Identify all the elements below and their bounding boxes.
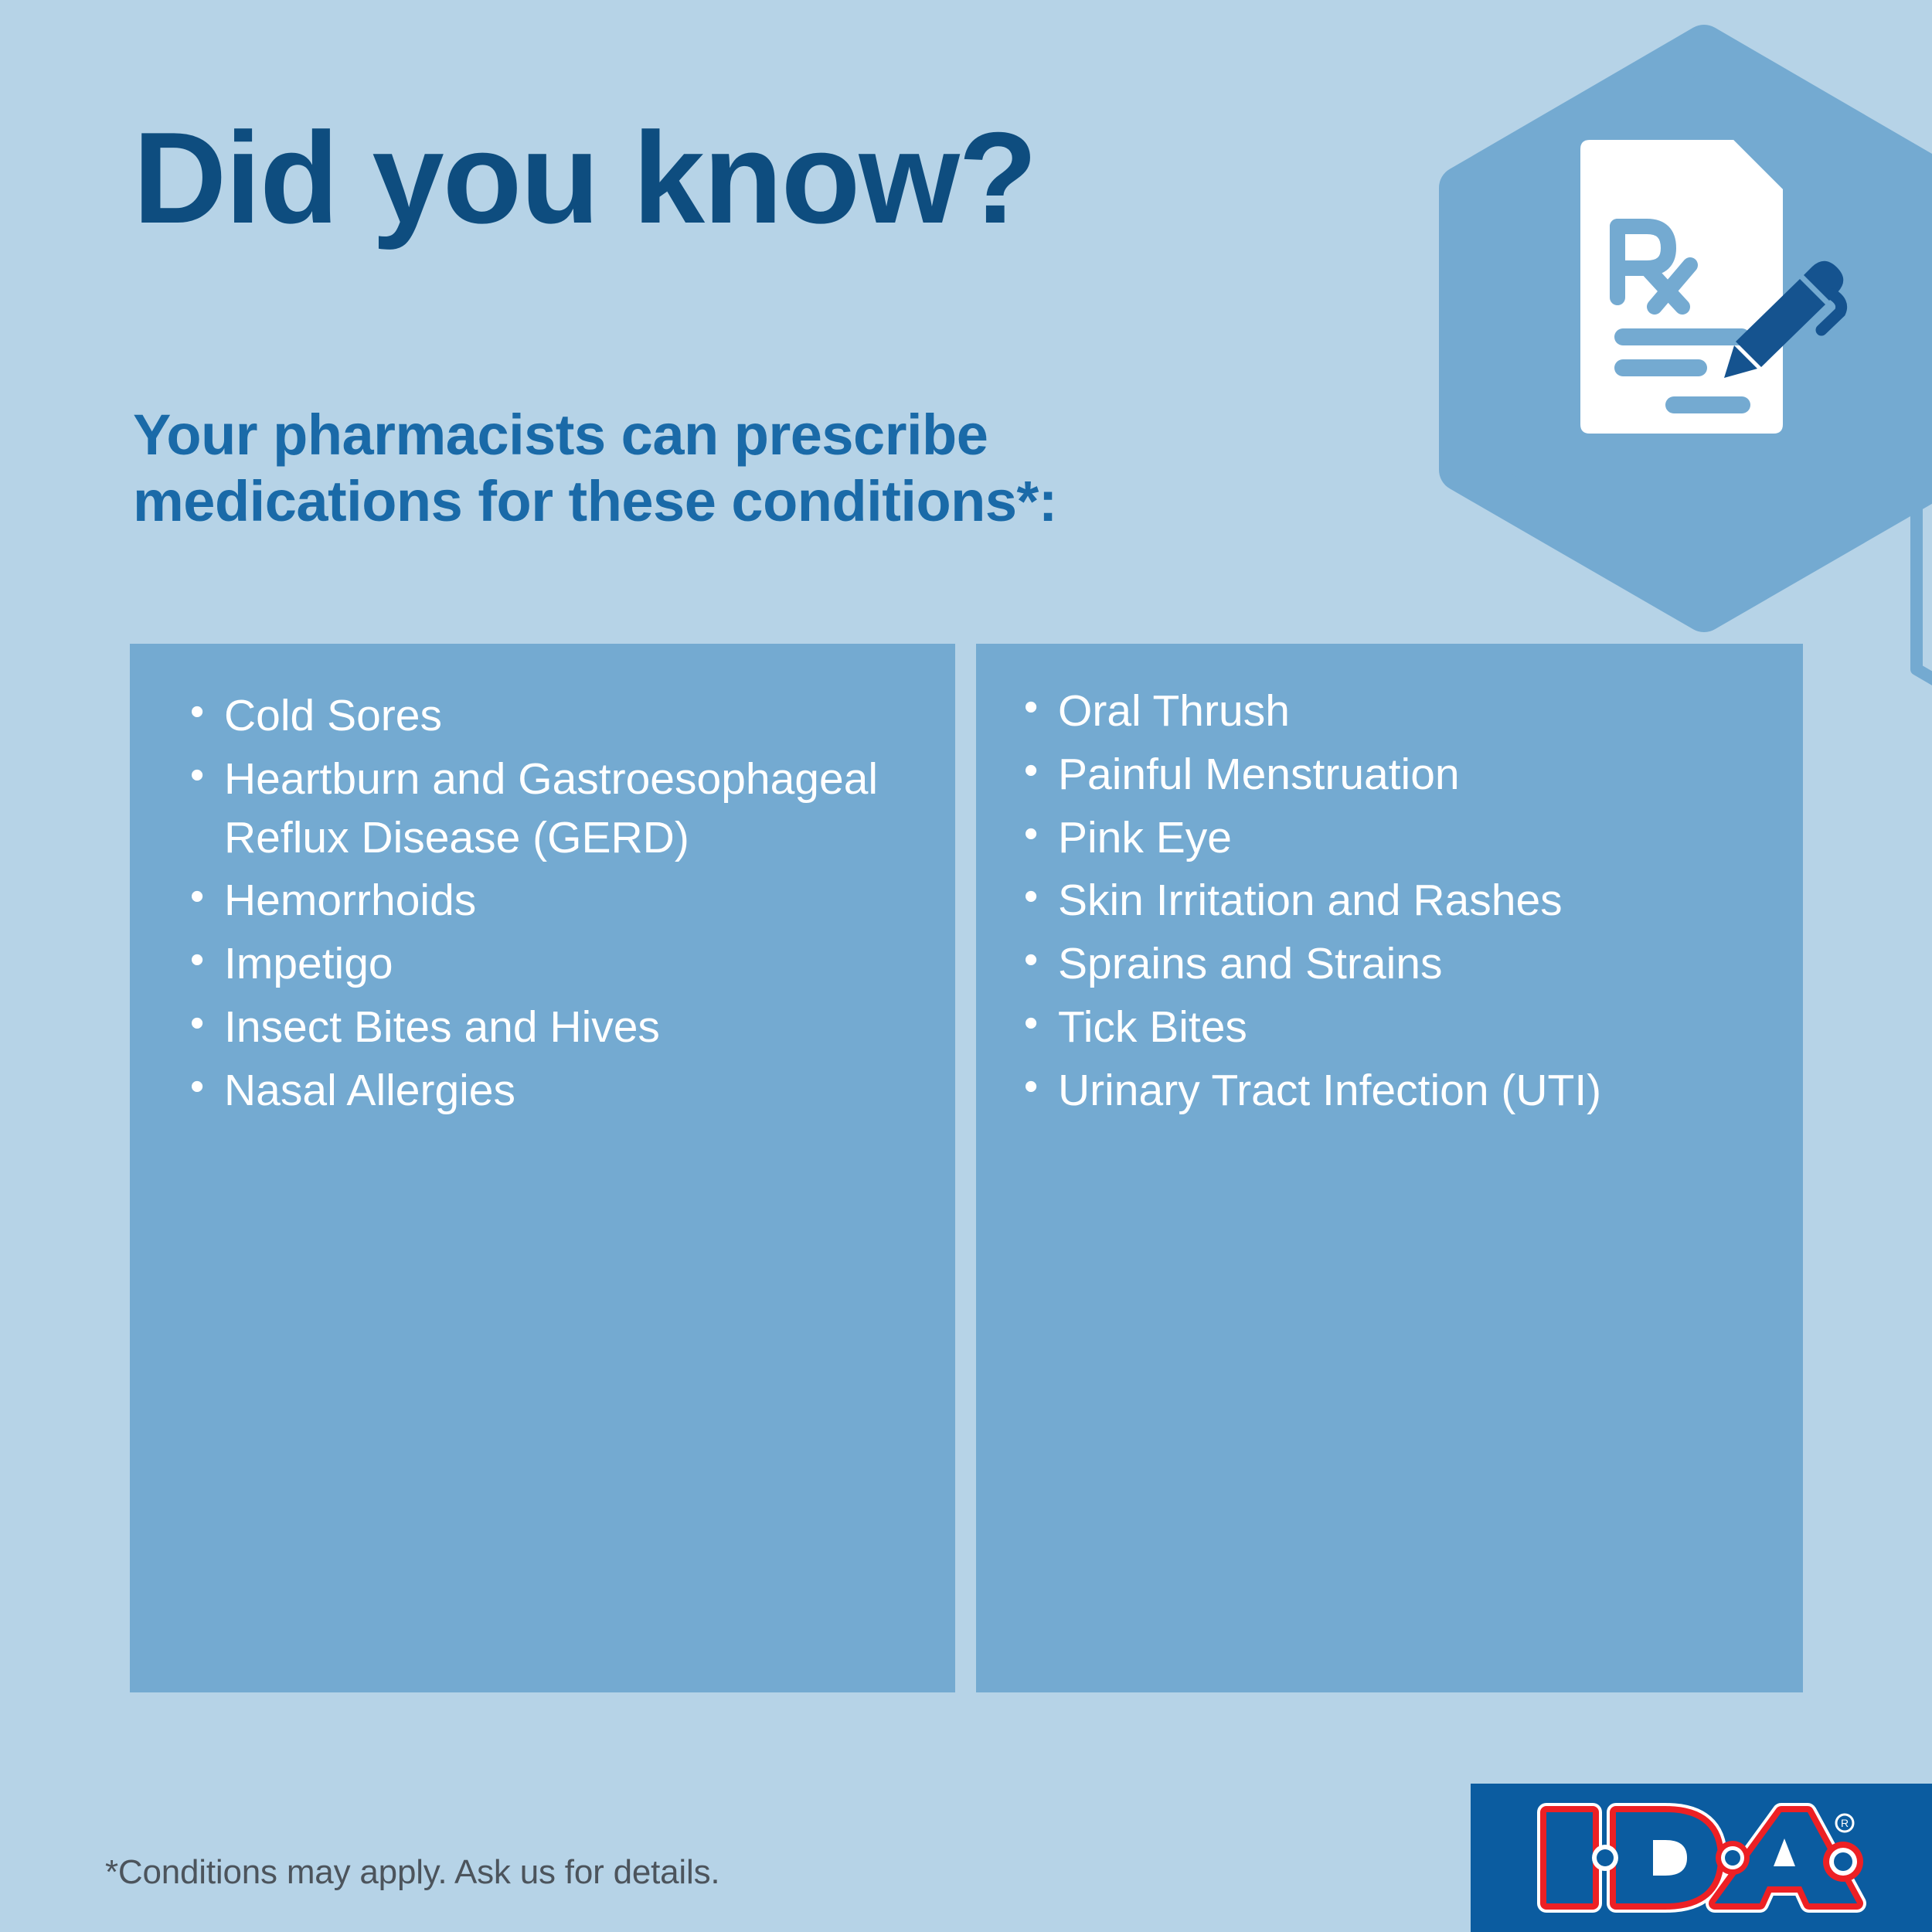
subheading-line-2: medications for these conditions*: xyxy=(133,468,1292,535)
list-item: Sprains and Strains xyxy=(1024,935,1772,994)
paper-fold xyxy=(1733,140,1783,189)
hexagon-outline-decoration xyxy=(1917,386,1932,764)
registered-trademark-icon: R xyxy=(1836,1815,1853,1832)
ida-logo-block: R xyxy=(1471,1784,1932,1932)
page-title: Did you know? xyxy=(133,113,1036,243)
list-item: Nasal Allergies xyxy=(190,1062,920,1121)
list-item: Painful Menstruation xyxy=(1024,746,1772,804)
list-item: Impetigo xyxy=(190,935,920,994)
list-item: Tick Bites xyxy=(1024,998,1772,1057)
conditions-panel-left: Cold Sores Heartburn and Gastroesophagea… xyxy=(130,644,955,1692)
list-item: Skin Irritation and Rashes xyxy=(1024,872,1772,930)
list-item: Pink Eye xyxy=(1024,809,1772,868)
conditions-panel-right: Oral Thrush Painful Menstruation Pink Ey… xyxy=(976,644,1803,1692)
list-item: Heartburn and Gastroesophageal Reflux Di… xyxy=(190,750,920,868)
ida-logo: R xyxy=(1536,1800,1868,1916)
infographic-poster: Did you know? Your pharmacists can presc… xyxy=(0,0,1932,1932)
conditions-list-right: Oral Thrush Painful Menstruation Pink Ey… xyxy=(976,644,1803,1121)
prescription-document-icon xyxy=(1573,135,1855,444)
footnote-disclaimer: *Conditions may apply. Ask us for detail… xyxy=(105,1853,719,1892)
subheading: Your pharmacists can prescribe medicatio… xyxy=(133,402,1292,535)
subheading-line-1: Your pharmacists can prescribe xyxy=(133,402,1292,468)
list-item: Hemorrhoids xyxy=(190,872,920,930)
list-item: Insect Bites and Hives xyxy=(190,998,920,1057)
conditions-list-left: Cold Sores Heartburn and Gastroesophagea… xyxy=(130,644,955,1121)
list-item: Urinary Tract Infection (UTI) xyxy=(1024,1062,1772,1121)
logo-d-counter xyxy=(1653,1840,1687,1876)
list-item: Oral Thrush xyxy=(1024,682,1772,741)
list-item: Cold Sores xyxy=(190,687,920,746)
svg-text:R: R xyxy=(1840,1817,1848,1829)
